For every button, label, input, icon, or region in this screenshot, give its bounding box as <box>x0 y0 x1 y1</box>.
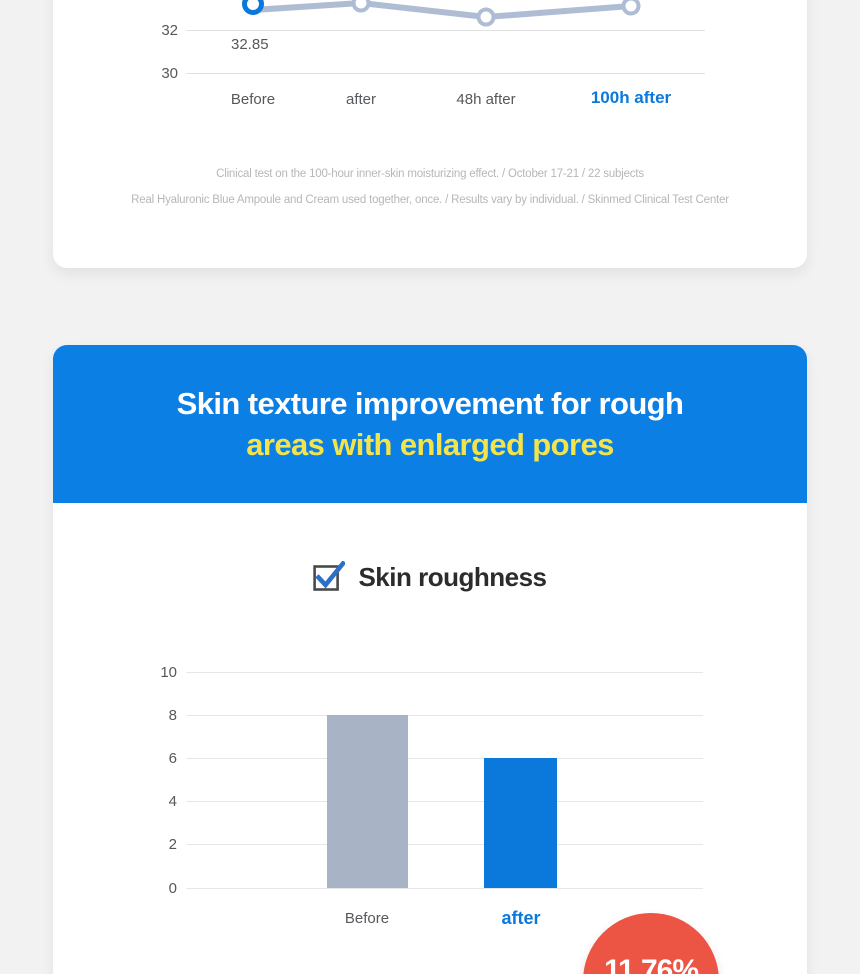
improvement-percent: 11.76% <box>604 956 698 974</box>
line-chart-point-label: 32.85 <box>231 37 269 52</box>
banner-line-2: areas with enlarged pores <box>246 424 613 465</box>
bar-chart-gridline <box>186 801 703 802</box>
bar-chart-ytick-8: 8 <box>137 708 177 723</box>
section-banner: Skin texture improvement for rough areas… <box>53 345 807 503</box>
bar-chart-ytick-2: 2 <box>137 837 177 852</box>
bar-chart-gridline <box>186 844 703 845</box>
bar-chart-xlabel-after: after <box>471 909 571 927</box>
chart-title: Skin roughness <box>53 561 807 593</box>
line-chart-xlabel-100h: 100h after <box>576 89 686 106</box>
pore-texture-card: Skin texture improvement for rough areas… <box>53 345 807 974</box>
line-chart-xlabel-after: after <box>311 92 411 107</box>
line-chart: 32 30 32.85 Before after 48h after 100h … <box>53 0 807 268</box>
line-chart-xlabel-48h: 48h after <box>436 92 536 107</box>
bar-chart-xlabel-before: Before <box>317 911 417 926</box>
line-chart-series <box>53 0 807 268</box>
page-root: 32 30 32.85 Before after 48h after 100h … <box>0 0 860 974</box>
bar-chart-ytick-4: 4 <box>137 794 177 809</box>
bar-chart-gridline <box>186 758 703 759</box>
footnote-line-2: Real Hyaluronic Blue Ampoule and Cream u… <box>53 194 807 208</box>
bar-after <box>484 758 557 888</box>
bar-chart-gridline <box>186 672 703 673</box>
chart-title-text: Skin roughness <box>358 562 546 593</box>
line-chart-xlabel-before: Before <box>203 92 303 107</box>
checkbox-checked-icon <box>313 561 345 593</box>
bar-chart-gridline <box>186 888 703 889</box>
improvement-badge: 11.76% IMPROVEMENT <box>583 913 719 974</box>
bar-chart-ytick-6: 6 <box>137 751 177 766</box>
bar-chart: 10 8 6 4 2 0 Before after 11.76% IMPROVE… <box>53 646 807 946</box>
bar-chart-gridline <box>186 715 703 716</box>
banner-line-1: Skin texture improvement for rough <box>177 383 684 424</box>
footnote-line-1: Clinical test on the 100-hour inner-skin… <box>53 168 807 182</box>
bar-before <box>327 715 408 888</box>
bar-chart-ytick-10: 10 <box>137 665 177 680</box>
bar-chart-ytick-0: 0 <box>137 881 177 896</box>
moisture-chart-card: 32 30 32.85 Before after 48h after 100h … <box>53 0 807 268</box>
